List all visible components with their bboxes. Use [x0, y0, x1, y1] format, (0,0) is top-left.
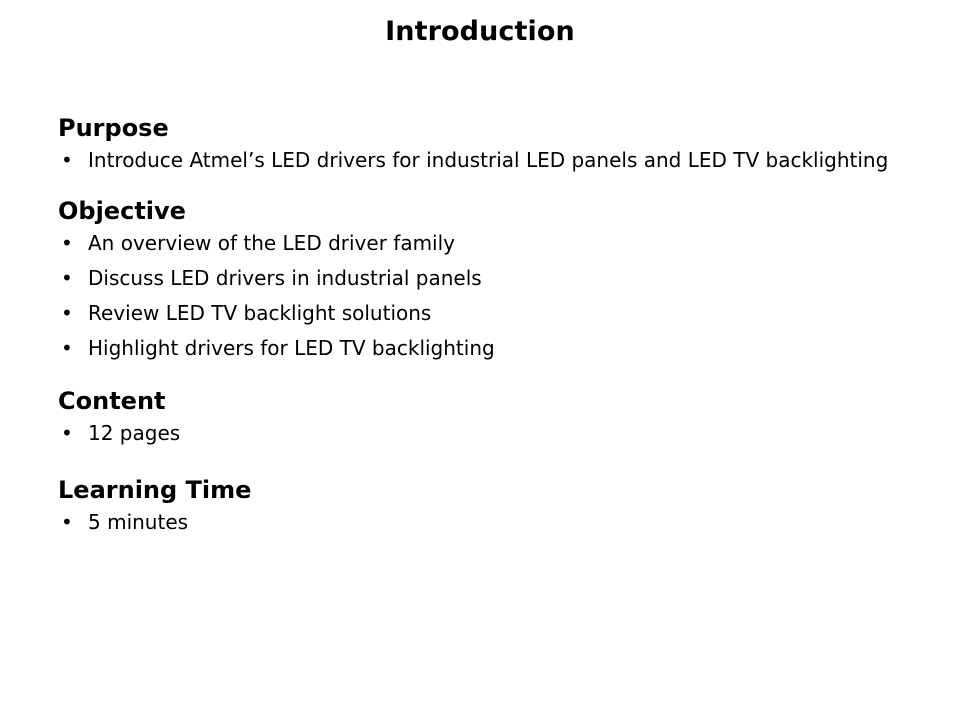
section-objective: Objective • An overview of the LED drive… [58, 196, 904, 362]
bullet-list-learning-time: • 5 minutes [58, 508, 904, 536]
bullet-dot-icon: • [61, 419, 77, 447]
list-item: • Introduce Atmel’s LED drivers for indu… [58, 146, 904, 174]
list-item-label: 5 minutes [88, 508, 904, 536]
section-heading-learning-time: Learning Time [58, 475, 904, 505]
bullet-dot-icon: • [61, 146, 77, 174]
section-learning-time: Learning Time • 5 minutes [58, 475, 904, 536]
slide-canvas: Introduction Purpose • Introduce Atmel’s… [0, 0, 960, 720]
list-item-label: Introduce Atmel’s LED drivers for indust… [88, 146, 904, 174]
list-item-label: Review LED TV backlight solutions [88, 299, 904, 327]
bullet-dot-icon: • [61, 264, 77, 292]
bullet-dot-icon: • [61, 299, 77, 327]
section-heading-content: Content [58, 386, 904, 416]
list-item: • 12 pages [58, 419, 904, 447]
page-title: Introduction [0, 16, 960, 48]
bullet-list-content: • 12 pages [58, 419, 904, 447]
list-item: • Review LED TV backlight solutions [58, 299, 904, 327]
bullet-dot-icon: • [61, 229, 77, 257]
section-purpose: Purpose • Introduce Atmel’s LED drivers … [58, 113, 904, 174]
list-item-label: Discuss LED drivers in industrial panels [88, 264, 904, 292]
list-item-label: Highlight drivers for LED TV backlightin… [88, 334, 904, 362]
section-heading-purpose: Purpose [58, 113, 904, 143]
list-item: • Discuss LED drivers in industrial pane… [58, 264, 904, 292]
section-content: Content • 12 pages [58, 386, 904, 447]
section-heading-objective: Objective [58, 196, 904, 226]
bullet-dot-icon: • [61, 334, 77, 362]
bullet-list-purpose: • Introduce Atmel’s LED drivers for indu… [58, 146, 904, 174]
list-item-label: 12 pages [88, 419, 904, 447]
bullet-dot-icon: • [61, 508, 77, 536]
bullet-list-objective: • An overview of the LED driver family •… [58, 229, 904, 362]
list-item: • An overview of the LED driver family [58, 229, 904, 257]
list-item: • Highlight drivers for LED TV backlight… [58, 334, 904, 362]
list-item: • 5 minutes [58, 508, 904, 536]
list-item-label: An overview of the LED driver family [88, 229, 904, 257]
slide-body: Purpose • Introduce Atmel’s LED drivers … [58, 113, 904, 536]
